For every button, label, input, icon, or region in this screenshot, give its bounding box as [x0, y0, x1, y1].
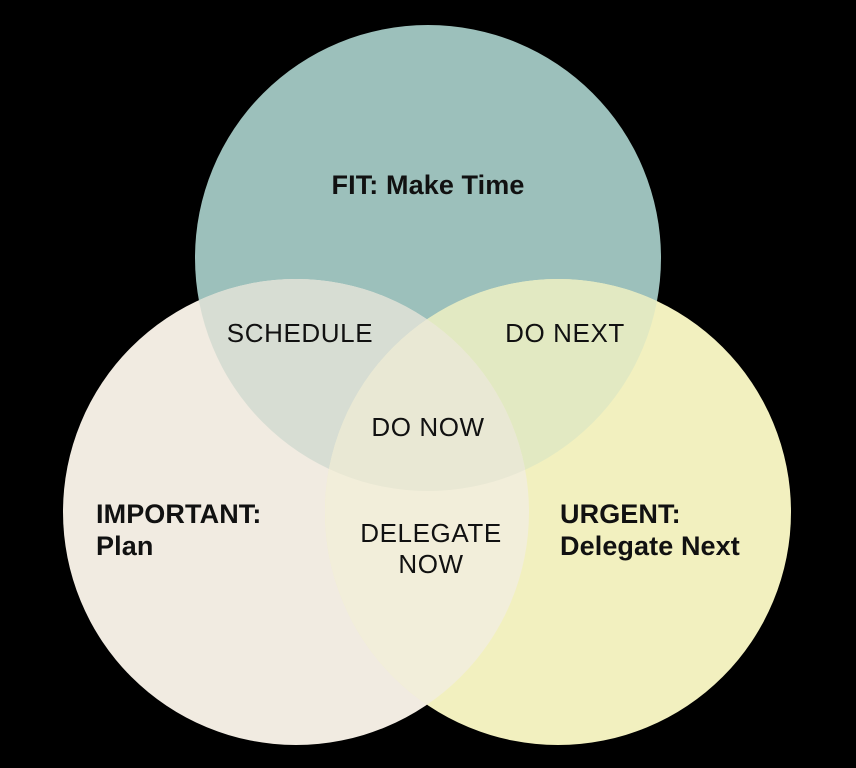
- venn-circles-svg: [0, 0, 856, 768]
- venn-diagram: FIT: Make Time IMPORTANT: Plan URGENT: D…: [0, 0, 856, 768]
